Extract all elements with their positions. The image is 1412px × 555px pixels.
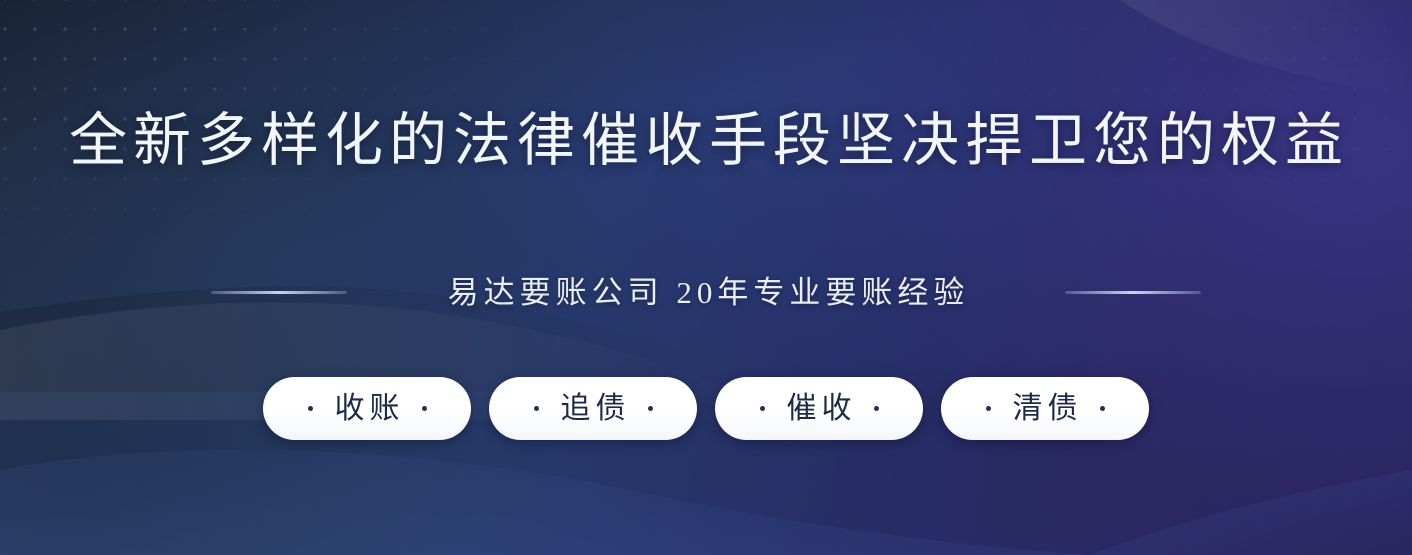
service-pill-zhuizhai[interactable]: 追债	[489, 377, 697, 440]
service-pill-label: 催收	[782, 394, 857, 424]
bullet-dot-icon	[874, 406, 879, 411]
bullet-dot-icon	[534, 406, 539, 411]
service-pill-qingzhai[interactable]: 清债	[941, 377, 1149, 440]
service-pill-group: 收账 追债 催收 清债	[0, 377, 1412, 440]
subtitle-text: 易达要账公司 20年专业要账经验	[443, 277, 970, 308]
service-pill-shouzhang[interactable]: 收账	[263, 377, 471, 440]
service-pill-label: 收账	[330, 394, 405, 424]
service-pill-label: 追债	[556, 394, 631, 424]
subtitle-row: 易达要账公司 20年专业要账经验	[0, 268, 1412, 316]
divider-line-right	[1065, 291, 1201, 294]
banner-content: 全新多样化的法律催收手段坚决捍卫您的权益 易达要账公司 20年专业要账经验 收账…	[0, 0, 1412, 555]
bullet-dot-icon	[760, 406, 765, 411]
promo-banner: 全新多样化的法律催收手段坚决捍卫您的权益 易达要账公司 20年专业要账经验 收账…	[0, 0, 1412, 555]
divider-line-left	[211, 291, 347, 294]
headline-text: 全新多样化的法律催收手段坚决捍卫您的权益	[0, 112, 1412, 170]
bullet-dot-icon	[986, 406, 991, 411]
bullet-dot-icon	[1100, 406, 1105, 411]
bullet-dot-icon	[648, 406, 653, 411]
service-pill-label: 清债	[1008, 394, 1083, 424]
service-pill-cuishou[interactable]: 催收	[715, 377, 923, 440]
bullet-dot-icon	[422, 406, 427, 411]
bullet-dot-icon	[308, 406, 313, 411]
